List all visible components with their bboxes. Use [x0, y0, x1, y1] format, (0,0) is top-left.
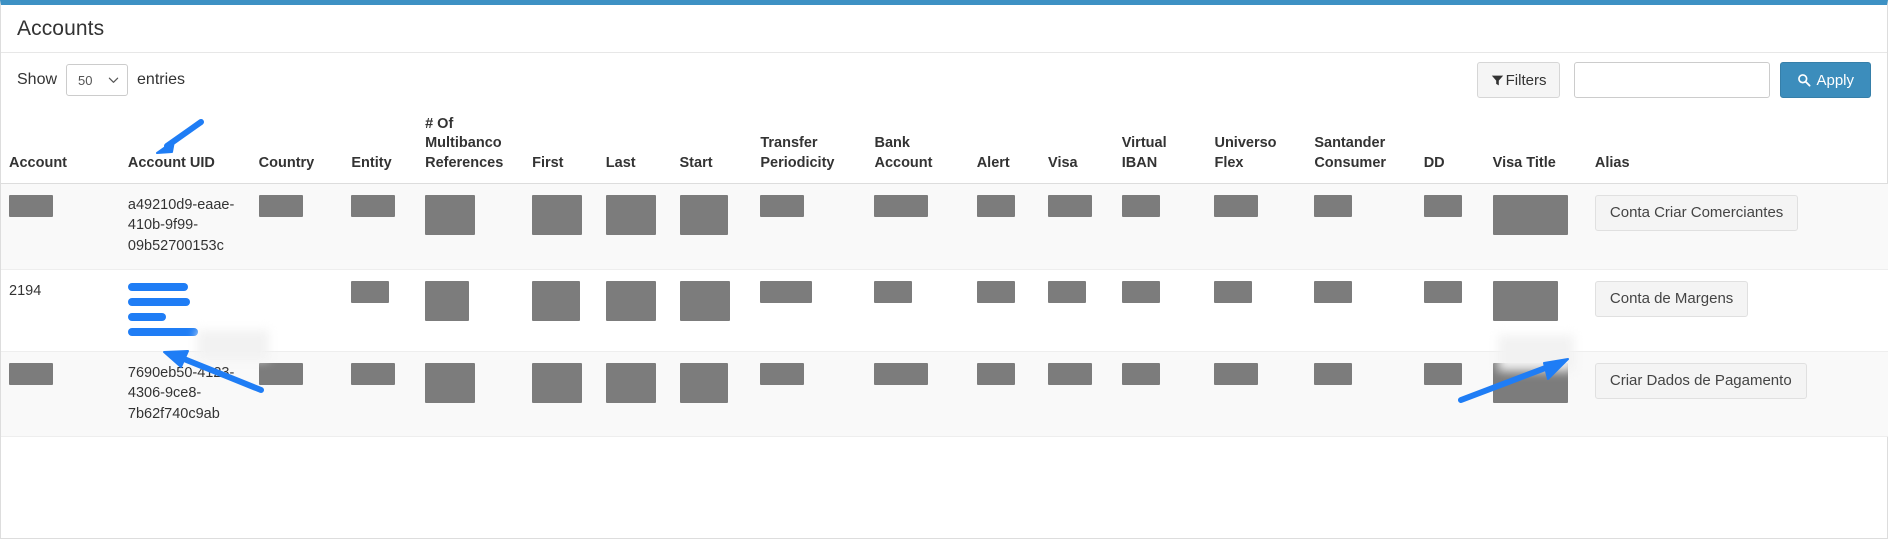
col-start[interactable]: Start	[672, 107, 753, 183]
cell-last	[598, 351, 672, 437]
cell-multibanco-refs	[417, 269, 524, 351]
redaction-block	[760, 281, 812, 303]
redaction-block	[977, 281, 1015, 303]
redaction-block	[9, 195, 53, 217]
col-first[interactable]: First	[524, 107, 598, 183]
cell-account: 2194	[1, 269, 120, 351]
funnel-icon	[1491, 74, 1504, 87]
redaction-block	[532, 195, 582, 235]
redaction-block	[1048, 363, 1092, 385]
redaction-block	[425, 363, 475, 403]
show-label: Show	[17, 71, 57, 89]
page-length-select[interactable]: 50	[66, 64, 128, 96]
redaction-block	[532, 363, 582, 403]
highlight-stroke	[128, 298, 190, 306]
cell-entity	[343, 183, 417, 269]
col-virtual-iban[interactable]: Virtual IBAN	[1114, 107, 1207, 183]
col-visa-title[interactable]: Visa Title	[1485, 107, 1587, 183]
cell-transfer-periodicity	[752, 183, 866, 269]
alias-button[interactable]: Conta Criar Comerciantes	[1595, 195, 1798, 232]
cell-first	[524, 183, 598, 269]
cell-start	[672, 351, 753, 437]
cell-alert	[969, 269, 1040, 351]
cell-last	[598, 269, 672, 351]
accounts-table-wrap: Account Account UID Country Entity # Of …	[1, 107, 1887, 437]
accounts-table: Account Account UID Country Entity # Of …	[1, 107, 1888, 437]
cell-visa-title	[1485, 351, 1587, 437]
col-santander-consumer[interactable]: Santander Consumer	[1306, 107, 1415, 183]
filter-controls: Filters Apply	[1477, 62, 1871, 98]
redaction-block	[760, 195, 804, 217]
redaction-block	[532, 281, 580, 321]
col-bank-account[interactable]: Bank Account	[866, 107, 968, 183]
account-value: 2194	[9, 283, 41, 299]
cell-virtual-iban	[1114, 351, 1207, 437]
chevron-down-icon	[108, 75, 119, 86]
table-row[interactable]: a49210d9-eaae-410b-9f99-09b52700153cCont…	[1, 183, 1888, 269]
redaction-block	[1048, 281, 1086, 303]
cell-first	[524, 269, 598, 351]
redaction-block	[1214, 363, 1258, 385]
redaction-block	[1314, 195, 1352, 217]
redaction-block	[606, 195, 656, 235]
cell-entity	[343, 269, 417, 351]
col-alert[interactable]: Alert	[969, 107, 1040, 183]
cell-universo-flex	[1206, 269, 1306, 351]
cell-entity	[343, 351, 417, 437]
entries-label: entries	[137, 71, 185, 89]
redaction-block	[1214, 195, 1258, 217]
panel-header: Accounts	[1, 5, 1887, 53]
redaction-block	[1122, 363, 1160, 385]
cell-visa-title	[1485, 183, 1587, 269]
alias-button[interactable]: Criar Dados de Pagamento	[1595, 363, 1807, 400]
cell-dd	[1416, 351, 1485, 437]
cell-santander-consumer	[1306, 269, 1415, 351]
cell-multibanco-refs	[417, 183, 524, 269]
cell-universo-flex	[1206, 351, 1306, 437]
redaction-block	[680, 195, 728, 235]
cell-dd	[1416, 183, 1485, 269]
redaction-block	[874, 281, 912, 303]
cell-country	[251, 351, 344, 437]
cell-visa	[1040, 351, 1114, 437]
cell-account-uid: a49210d9-eaae-410b-9f99-09b52700153c	[120, 183, 251, 269]
redaction-block	[351, 363, 395, 385]
col-account-uid[interactable]: Account UID	[120, 107, 251, 183]
col-transfer-periodicity[interactable]: Transfer Periodicity	[752, 107, 866, 183]
redaction-block	[977, 195, 1015, 217]
cell-alias: Conta de Margens	[1587, 269, 1888, 351]
redaction-block	[259, 363, 303, 385]
account-uid-value: 7690eb50-4123-4306-9ce8-7b62f740c9ab	[128, 365, 234, 422]
accounts-panel: Accounts Show 50 entries Filters	[0, 0, 1888, 539]
page-length-value: 50	[78, 73, 92, 88]
highlight-stroke	[128, 283, 188, 291]
col-multibanco-refs[interactable]: # Of Multibanco References	[417, 107, 524, 183]
cell-santander-consumer	[1306, 183, 1415, 269]
col-universo-flex[interactable]: Universo Flex	[1206, 107, 1306, 183]
redaction-block	[1122, 195, 1160, 217]
cell-visa	[1040, 183, 1114, 269]
col-dd[interactable]: DD	[1416, 107, 1485, 183]
cell-alias: Conta Criar Comerciantes	[1587, 183, 1888, 269]
redaction-block	[977, 363, 1015, 385]
redaction-block	[1493, 195, 1568, 235]
redaction-block	[874, 195, 928, 217]
col-last[interactable]: Last	[598, 107, 672, 183]
col-account[interactable]: Account	[1, 107, 120, 183]
cell-last	[598, 183, 672, 269]
cell-multibanco-refs	[417, 351, 524, 437]
cell-account	[1, 351, 120, 437]
cell-start	[672, 269, 753, 351]
cell-account-uid	[120, 269, 251, 351]
redaction-block	[680, 363, 728, 403]
cell-santander-consumer	[1306, 351, 1415, 437]
redaction-block	[259, 195, 303, 217]
redaction-block	[351, 281, 389, 303]
table-body: a49210d9-eaae-410b-9f99-09b52700153cCont…	[1, 183, 1888, 436]
redaction-block	[1314, 363, 1352, 385]
apply-button[interactable]: Apply	[1780, 62, 1871, 98]
redaction-block	[425, 281, 469, 321]
table-header: Account Account UID Country Entity # Of …	[1, 107, 1888, 183]
redaction-block	[606, 281, 656, 321]
account-uid-value: a49210d9-eaae-410b-9f99-09b52700153c	[128, 197, 234, 254]
redaction-block	[1424, 195, 1462, 217]
apply-label: Apply	[1816, 72, 1854, 89]
search-input[interactable]	[1574, 62, 1770, 98]
redaction-block	[680, 281, 730, 321]
col-entity[interactable]: Entity	[343, 107, 417, 183]
col-visa[interactable]: Visa	[1040, 107, 1114, 183]
redaction-block	[9, 363, 53, 385]
redaction-block	[606, 363, 656, 403]
cell-bank-account	[866, 351, 968, 437]
cell-alert	[969, 183, 1040, 269]
redaction-block	[874, 363, 928, 385]
page-title: Accounts	[17, 17, 104, 41]
cell-transfer-periodicity	[752, 351, 866, 437]
cell-visa	[1040, 269, 1114, 351]
cell-account	[1, 183, 120, 269]
cell-country	[251, 269, 344, 351]
table-row[interactable]: 7690eb50-4123-4306-9ce8-7b62f740c9abCria…	[1, 351, 1888, 437]
cell-bank-account	[866, 269, 968, 351]
redaction-block	[1214, 281, 1252, 303]
cell-virtual-iban	[1114, 183, 1207, 269]
uid-highlight-redaction	[128, 281, 243, 339]
cell-account-uid: 7690eb50-4123-4306-9ce8-7b62f740c9ab	[120, 351, 251, 437]
cell-virtual-iban	[1114, 269, 1207, 351]
cell-dd	[1416, 269, 1485, 351]
cell-alias: Criar Dados de Pagamento	[1587, 351, 1888, 437]
redaction-block	[760, 363, 804, 385]
redaction-block	[425, 195, 475, 235]
cell-visa-title	[1485, 269, 1587, 351]
table-controls: Show 50 entries Filters Appl	[1, 53, 1887, 107]
highlight-stroke	[128, 328, 198, 336]
cell-alert	[969, 351, 1040, 437]
alias-button[interactable]: Conta de Margens	[1595, 281, 1748, 318]
cell-start	[672, 183, 753, 269]
cell-bank-account	[866, 183, 968, 269]
col-country[interactable]: Country	[251, 107, 344, 183]
highlight-stroke	[128, 313, 166, 321]
table-row[interactable]: 2194Conta de Margens	[1, 269, 1888, 351]
filters-button[interactable]: Filters	[1477, 62, 1561, 98]
cell-country	[251, 183, 344, 269]
col-alias[interactable]: Alias	[1587, 107, 1888, 183]
search-icon	[1797, 73, 1811, 87]
redaction-block	[1122, 281, 1160, 303]
redaction-block	[1424, 281, 1462, 303]
redaction-block	[1314, 281, 1352, 303]
cell-first	[524, 351, 598, 437]
redaction-block	[1048, 195, 1092, 217]
filters-label: Filters	[1506, 72, 1547, 89]
redaction-block	[1424, 363, 1462, 385]
redaction-block	[1493, 281, 1558, 321]
redaction-block	[351, 195, 395, 217]
cell-universo-flex	[1206, 183, 1306, 269]
redaction-block	[1493, 363, 1568, 403]
header-row: Account Account UID Country Entity # Of …	[1, 107, 1888, 183]
page-length-control: Show 50 entries	[17, 64, 185, 96]
cell-transfer-periodicity	[752, 269, 866, 351]
